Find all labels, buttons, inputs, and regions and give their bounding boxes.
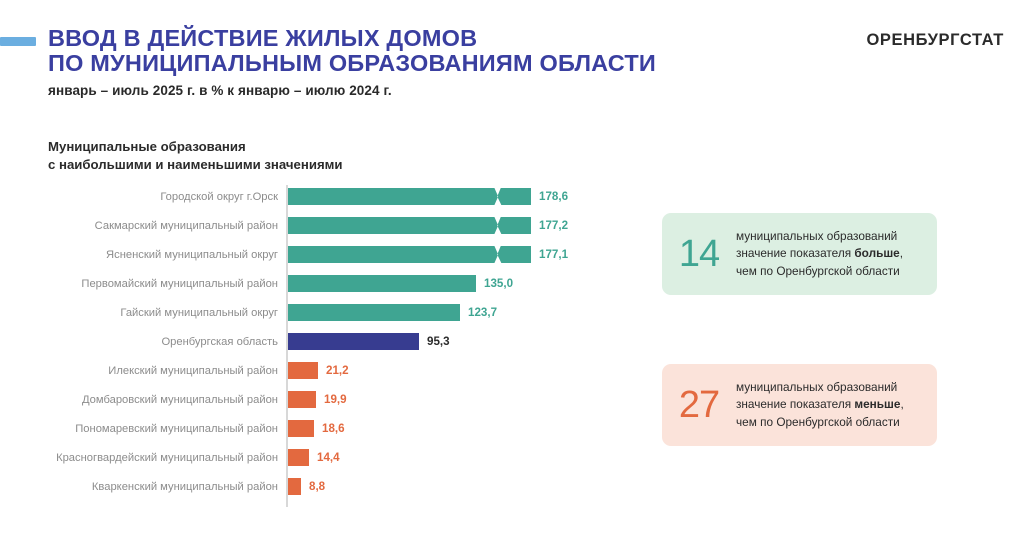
summary-card-less-emphasis: меньше — [854, 397, 900, 411]
chart-bar-value: 123,7 — [468, 306, 497, 319]
page-subtitle: январь – июль 2025 г. в % к январю – июл… — [48, 83, 656, 98]
chart-row-label: Пономаревский муниципальный район — [0, 423, 278, 435]
chart-row: Первомайский муниципальный район135,0 — [0, 269, 640, 298]
chart-bar-value: 19,9 — [324, 393, 347, 406]
summary-card-less-line-2: значение показателя меньше, — [736, 396, 904, 414]
chart-bar-value: 8,8 — [309, 480, 325, 493]
chart-row-label: Домбаровский муниципальный район — [0, 394, 278, 406]
summary-card-more-number: 14 — [662, 233, 736, 276]
chart-bar — [288, 217, 531, 234]
chart-row: Городской округ г.Орск178,6 — [0, 182, 640, 211]
chart-row: Оренбургская область95,3 — [0, 327, 640, 356]
chart-bar-wrap: 95,3 — [288, 333, 450, 350]
chart-bar-wrap: 177,2 — [288, 217, 568, 234]
chart-bar — [288, 275, 476, 292]
chart-row: Кваркенский муниципальный район8,8 — [0, 472, 640, 501]
accent-bar-icon — [0, 37, 36, 46]
axis-break-icon — [494, 216, 507, 235]
chart-bar-value: 18,6 — [322, 422, 345, 435]
axis-break-icon — [494, 187, 507, 206]
chart-bar — [288, 362, 318, 379]
title-block: ВВОД В ДЕЙСТВИЕ ЖИЛЫХ ДОМОВ ПО МУНИЦИПАЛ… — [48, 26, 656, 98]
bar-chart: Городской округ г.Орск178,6Сакмарский му… — [0, 182, 640, 512]
chart-bar-value: 178,6 — [539, 190, 568, 203]
chart-row: Сакмарский муниципальный район177,2 — [0, 211, 640, 240]
chart-row: Илекский муниципальный район21,2 — [0, 356, 640, 385]
chart-heading: Муниципальные образования с наибольшими … — [48, 138, 343, 174]
summary-card-less-line-3: чем по Оренбургской области — [736, 414, 904, 432]
chart-heading-line-2: с наибольшими и наименьшими значениями — [48, 156, 343, 174]
summary-card-more-line-3: чем по Оренбургской области — [736, 263, 903, 281]
summary-card-more: 14 муниципальных образований значение по… — [662, 213, 937, 295]
chart-row-label: Ясненский муниципальный округ — [0, 249, 278, 261]
chart-row: Красногвардейский муниципальный район14,… — [0, 443, 640, 472]
summary-card-more-text: муниципальных образований значение показ… — [736, 228, 903, 281]
summary-card-less-line-1: муниципальных образований — [736, 379, 904, 397]
chart-bar — [288, 333, 419, 350]
chart-row-label: Оренбургская область — [0, 336, 278, 348]
chart-row: Домбаровский муниципальный район19,9 — [0, 385, 640, 414]
summary-card-more-line-2: значение показателя больше, — [736, 245, 903, 263]
summary-card-less-text: муниципальных образований значение показ… — [736, 379, 904, 432]
chart-bar — [288, 188, 531, 205]
page-title-line-2: ПО МУНИЦИПАЛЬНЫМ ОБРАЗОВАНИЯМ ОБЛАСТИ — [48, 51, 656, 76]
chart-row-label: Кваркенский муниципальный район — [0, 481, 278, 493]
axis-break-icon — [494, 245, 507, 264]
chart-bar-wrap: 21,2 — [288, 362, 349, 379]
summary-card-more-line-2-post: , — [900, 246, 903, 260]
chart-row-label: Городской округ г.Орск — [0, 191, 278, 203]
chart-bar — [288, 304, 460, 321]
chart-bar — [288, 420, 314, 437]
chart-bar-wrap: 177,1 — [288, 246, 568, 263]
chart-bar-value: 21,2 — [326, 364, 349, 377]
chart-row: Ясненский муниципальный округ177,1 — [0, 240, 640, 269]
summary-card-less-line-2-pre: значение показателя — [736, 397, 854, 411]
chart-bar-value: 177,1 — [539, 248, 568, 261]
summary-card-more-line-1: муниципальных образований — [736, 228, 903, 246]
chart-bar — [288, 478, 301, 495]
chart-bar-wrap: 8,8 — [288, 478, 325, 495]
summary-card-less-line-2-post: , — [900, 397, 903, 411]
summary-card-less-number: 27 — [662, 384, 736, 427]
chart-bar — [288, 246, 531, 263]
chart-bar-wrap: 135,0 — [288, 275, 513, 292]
summary-card-more-line-2-pre: значение показателя — [736, 246, 854, 260]
chart-row: Гайский муниципальный округ123,7 — [0, 298, 640, 327]
summary-card-more-emphasis: больше — [854, 246, 899, 260]
chart-row: Пономаревский муниципальный район18,6 — [0, 414, 640, 443]
chart-bar-wrap: 123,7 — [288, 304, 497, 321]
chart-row-label: Илекский муниципальный район — [0, 365, 278, 377]
chart-bar-value: 135,0 — [484, 277, 513, 290]
chart-row-label: Первомайский муниципальный район — [0, 278, 278, 290]
page-header: ВВОД В ДЕЙСТВИЕ ЖИЛЫХ ДОМОВ ПО МУНИЦИПАЛ… — [0, 0, 1024, 118]
chart-bar-value: 14,4 — [317, 451, 340, 464]
chart-bar-wrap: 178,6 — [288, 188, 568, 205]
infographic-page: ВВОД В ДЕЙСТВИЕ ЖИЛЫХ ДОМОВ ПО МУНИЦИПАЛ… — [0, 0, 1024, 553]
chart-bar — [288, 449, 309, 466]
chart-row-label: Гайский муниципальный округ — [0, 307, 278, 319]
brand-logo-orenburgstat: ОРЕНБУРГСТАТ — [866, 31, 1004, 50]
chart-bar-value: 95,3 — [427, 335, 450, 348]
chart-bar-wrap: 14,4 — [288, 449, 340, 466]
summary-card-less: 27 муниципальных образований значение по… — [662, 364, 937, 446]
chart-bar-wrap: 18,6 — [288, 420, 345, 437]
chart-bar-value: 177,2 — [539, 219, 568, 232]
chart-bar-wrap: 19,9 — [288, 391, 347, 408]
page-title-line-1: ВВОД В ДЕЙСТВИЕ ЖИЛЫХ ДОМОВ — [48, 26, 656, 51]
chart-heading-line-1: Муниципальные образования — [48, 138, 343, 156]
chart-row-label: Сакмарский муниципальный район — [0, 220, 278, 232]
chart-row-label: Красногвардейский муниципальный район — [0, 452, 278, 464]
chart-bar — [288, 391, 316, 408]
